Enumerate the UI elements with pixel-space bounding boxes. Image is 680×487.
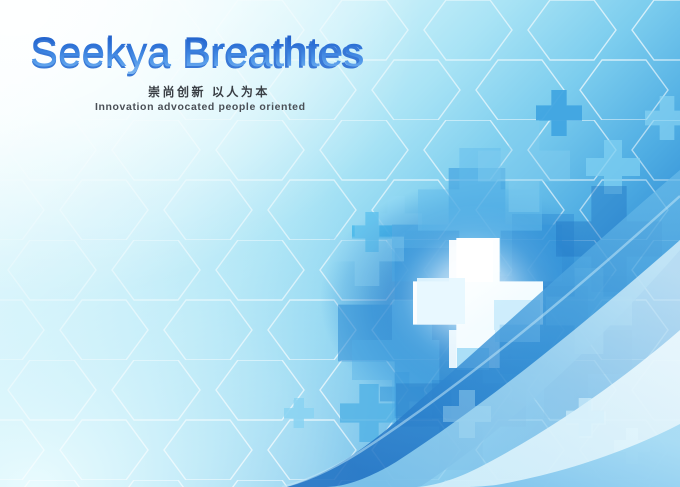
- pixel-cross: [284, 400, 312, 428]
- pixel-cross: [443, 390, 491, 438]
- medical-banner: Seekya Breathtes Seekya Breathtes 崇尚创新 以…: [0, 0, 680, 487]
- pixel-cross: [566, 398, 604, 436]
- foreground-pixel-crosses: [0, 0, 680, 487]
